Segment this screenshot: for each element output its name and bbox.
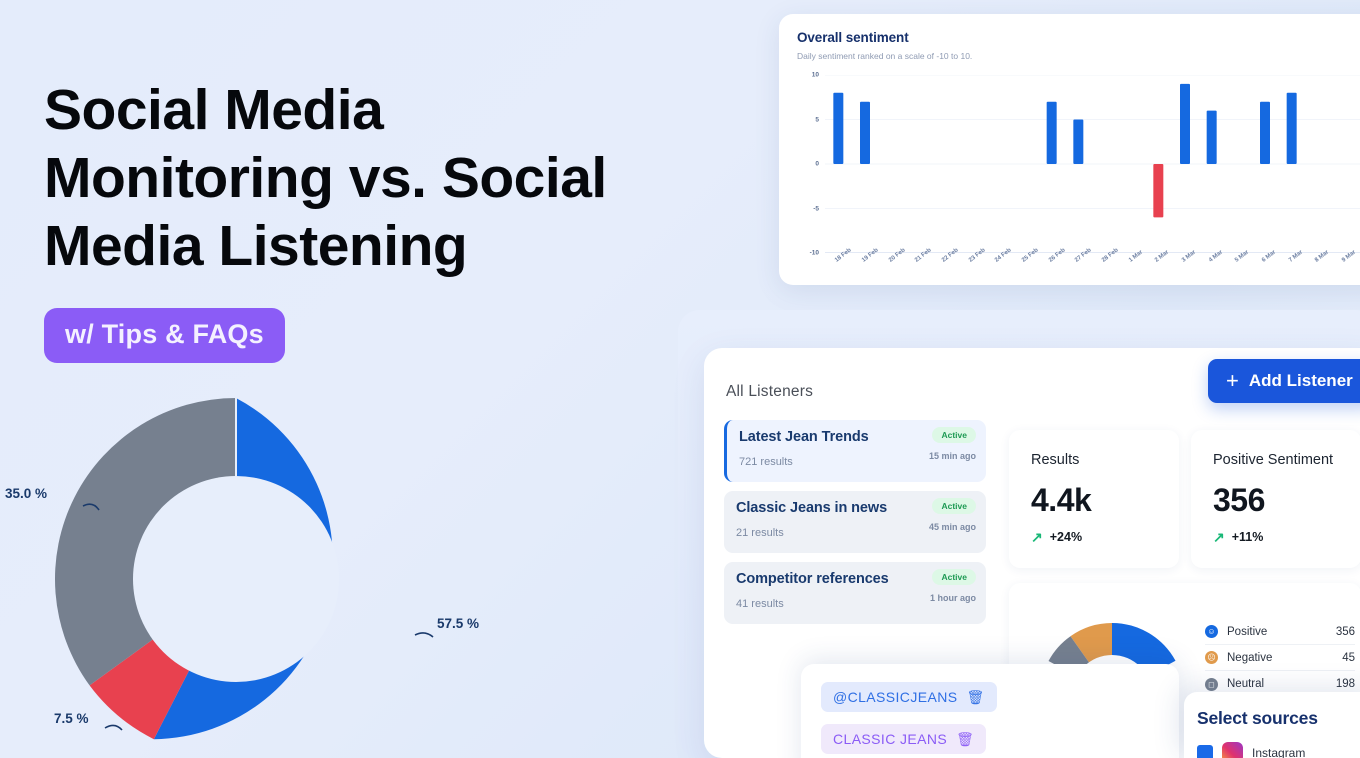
- legend-label: Positive: [1227, 626, 1336, 638]
- bar: [1073, 120, 1083, 165]
- bar: [833, 93, 843, 164]
- keyword-text: CLASSIC JEANS: [833, 731, 947, 747]
- bar: [1287, 93, 1297, 164]
- stat-delta-value: +11%: [1232, 530, 1264, 544]
- stat-value: 356: [1213, 482, 1265, 519]
- stat-card-results: Results 4.4k ↗ +24%: [1009, 430, 1179, 568]
- main-donut-chart: 35.0 % 57.5 % 7.5 %: [55, 398, 417, 758]
- plus-icon: +: [1226, 370, 1239, 392]
- select-sources-panel: Select sources Instagram: [1184, 692, 1360, 758]
- listener-time: 1 hour ago: [930, 593, 976, 603]
- arrow-up-right-icon: ↗: [1031, 530, 1043, 544]
- listener-card[interactable]: Competitor references 41 results Active …: [724, 562, 986, 624]
- stat-delta-value: +24%: [1050, 530, 1082, 544]
- keyword-tag[interactable]: CLASSIC JEANS 🗑: [821, 724, 986, 754]
- chart-title: Overall sentiment: [797, 30, 1360, 45]
- y-axis-tick: 5: [815, 116, 819, 123]
- tips-faqs-badge: w/ Tips & FAQs: [44, 308, 285, 363]
- keyword-tag[interactable]: @CLASSICJEANS 🗑: [821, 682, 997, 712]
- donut-hole: [133, 476, 339, 682]
- trash-icon[interactable]: 🗑: [956, 732, 974, 746]
- donut-label-gray: 35.0 %: [5, 486, 47, 501]
- y-axis-tick: -5: [813, 205, 819, 212]
- source-row[interactable]: Instagram: [1197, 742, 1360, 758]
- bar: [1047, 102, 1057, 164]
- checkbox-icon[interactable]: [1197, 745, 1213, 758]
- legend-value: 198: [1336, 678, 1355, 690]
- bar: [860, 102, 870, 164]
- bar-chart-svg: [825, 75, 1360, 253]
- listener-time: 15 min ago: [929, 451, 976, 461]
- listener-card[interactable]: Classic Jeans in news 21 results Active …: [724, 491, 986, 553]
- page-title: Social Media Monitoring vs. Social Media…: [44, 76, 664, 280]
- legend-label: Neutral: [1227, 678, 1336, 690]
- leader-line-red: [105, 725, 122, 730]
- legend-row: ☹ Negative 45: [1205, 645, 1355, 671]
- source-label: Instagram: [1252, 746, 1305, 758]
- listener-card[interactable]: Latest Jean Trends 721 results Active 15…: [724, 420, 986, 482]
- status-badge: Active: [932, 427, 976, 443]
- listener-time: 45 min ago: [929, 522, 976, 532]
- title-line-3: Media Listening: [44, 212, 664, 280]
- status-badge: Active: [932, 498, 976, 514]
- add-listener-button[interactable]: + Add Listener: [1208, 359, 1360, 403]
- sentiment-legend: ☺ Positive 356 ☹ Negative 45 ◻ Neutral 1…: [1205, 619, 1355, 697]
- legend-label: Negative: [1227, 652, 1342, 664]
- listener-name: Classic Jeans in news: [736, 500, 887, 516]
- status-badge: Active: [932, 569, 976, 585]
- listener-results: 721 results: [739, 456, 793, 468]
- bar: [1180, 84, 1190, 164]
- all-listeners-title: All Listeners: [726, 383, 813, 401]
- sentiment-plot: 1050-5-1018 Feb19 Feb20 Feb21 Feb22 Feb2…: [825, 75, 1360, 253]
- instagram-icon: [1222, 742, 1243, 758]
- bar: [1260, 102, 1270, 164]
- stat-label: Results: [1031, 452, 1079, 468]
- stat-delta: ↗ +11%: [1213, 530, 1263, 544]
- trash-icon[interactable]: 🗑: [966, 690, 984, 704]
- stat-label: Positive Sentiment: [1213, 452, 1333, 468]
- add-listener-label: Add Listener: [1249, 371, 1353, 391]
- stat-card-positive-sentiment: Positive Sentiment 356 ↗ +11%: [1191, 430, 1360, 568]
- y-axis-tick: 0: [815, 161, 819, 168]
- leader-line-blue: [415, 633, 433, 637]
- arrow-up-right-icon: ↗: [1213, 530, 1225, 544]
- keywords-panel: @CLASSICJEANS 🗑 CLASSIC JEANS 🗑 #CLASSIC…: [801, 664, 1179, 758]
- chart-subtitle: Daily sentiment ranked on a scale of -10…: [797, 51, 1360, 61]
- y-axis-tick: 10: [812, 72, 819, 79]
- legend-value: 45: [1342, 652, 1355, 664]
- stat-value: 4.4k: [1031, 482, 1091, 519]
- stat-delta: ↗ +24%: [1031, 530, 1082, 544]
- listener-name: Competitor references: [736, 571, 889, 587]
- donut-label-red: 7.5 %: [54, 711, 89, 726]
- legend-row: ☺ Positive 356: [1205, 619, 1355, 645]
- donut-svg: [55, 398, 417, 758]
- listener-results: 41 results: [736, 598, 784, 610]
- listener-results: 21 results: [736, 527, 784, 539]
- title-line-2: Monitoring vs. Social: [44, 144, 664, 212]
- bar: [1207, 111, 1217, 164]
- frown-icon: ☹: [1205, 651, 1218, 664]
- hero-section: Social Media Monitoring vs. Social Media…: [44, 76, 664, 363]
- y-axis-tick: -10: [810, 250, 819, 257]
- legend-value: 356: [1336, 626, 1355, 638]
- keyword-text: @CLASSICJEANS: [833, 689, 957, 705]
- bar: [1153, 164, 1163, 217]
- neutral-icon: ◻: [1205, 678, 1218, 691]
- smiley-icon: ☺: [1205, 625, 1218, 638]
- donut-label-blue: 57.5 %: [437, 616, 479, 631]
- listener-name: Latest Jean Trends: [739, 429, 869, 445]
- overall-sentiment-card: Overall sentiment Daily sentiment ranked…: [779, 14, 1360, 285]
- title-line-1: Social Media: [44, 76, 664, 144]
- select-sources-title: Select sources: [1197, 708, 1360, 729]
